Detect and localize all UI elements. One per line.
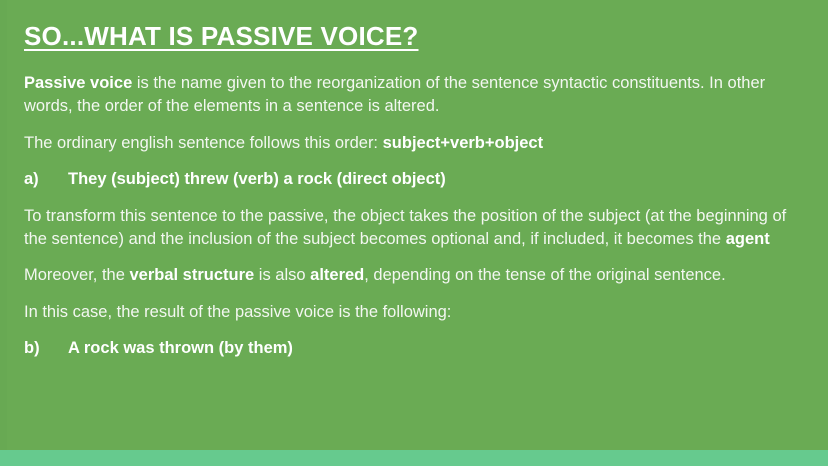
list-item-marker: b) (24, 337, 68, 360)
paragraph-result-intro: In this case, the result of the passive … (24, 301, 804, 324)
emphasis-text: verbal structure (129, 266, 254, 284)
list-item-label: A rock was thrown (by them) (68, 337, 804, 360)
body-text: Moreover, the (24, 266, 129, 284)
body-text: In this case, the result of the passive … (24, 303, 451, 321)
bottom-accent-band (0, 450, 828, 466)
slide-body: Passive voice is the name given to the r… (24, 72, 804, 361)
paragraph-definition: Passive voice is the name given to the r… (24, 72, 804, 119)
body-text: To transform this sentence to the passiv… (24, 207, 786, 248)
example-passive: b)A rock was thrown (by them) (24, 337, 804, 360)
body-text: is the name given to the reorganization … (24, 74, 765, 115)
paragraph-verbal-structure: Moreover, the verbal structure is also a… (24, 264, 804, 287)
emphasis-text: altered (310, 266, 364, 284)
page-title: SO...WHAT IS PASSIVE VOICE? (24, 22, 419, 52)
emphasis-text: agent (726, 230, 770, 248)
body-text: is also (254, 266, 310, 284)
paragraph-transformation: To transform this sentence to the passiv… (24, 205, 804, 252)
example-active: a)They (subject) threw (verb) a rock (di… (24, 168, 804, 191)
emphasis-text: subject+verb+object (383, 134, 543, 152)
body-text: The ordinary english sentence follows th… (24, 134, 383, 152)
body-text: , depending on the tense of the original… (364, 266, 725, 284)
paragraph-ordinary-order: The ordinary english sentence follows th… (24, 132, 804, 155)
slide: SO...WHAT IS PASSIVE VOICE? Passive voic… (0, 0, 828, 466)
slide-content: SO...WHAT IS PASSIVE VOICE? Passive voic… (0, 0, 828, 374)
list-item-marker: a) (24, 168, 68, 191)
emphasis-text: Passive voice (24, 74, 132, 92)
list-item-label: They (subject) threw (verb) a rock (dire… (68, 168, 804, 191)
